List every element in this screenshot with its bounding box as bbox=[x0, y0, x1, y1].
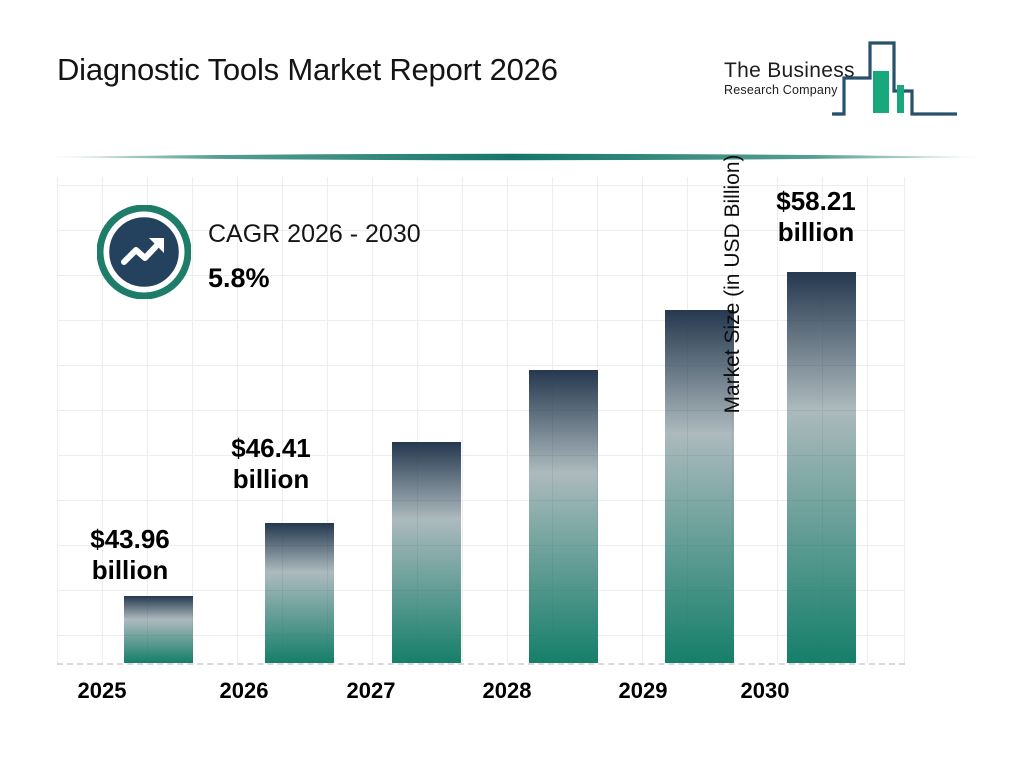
value-label-2026: $46.41 billion bbox=[199, 433, 343, 495]
x-tick-2030: 2030 bbox=[717, 678, 813, 704]
cagr-callout: CAGR 2026 - 2030 5.8% bbox=[97, 205, 497, 305]
value-unit: billion bbox=[744, 217, 888, 248]
trending-up-icon bbox=[97, 205, 191, 304]
value-label-2030: $58.21 billion bbox=[744, 186, 888, 248]
x-tick-2029: 2029 bbox=[595, 678, 691, 704]
y-axis-title: Market Size (in USD Billion) bbox=[721, 84, 745, 484]
value-amount: $58.21 bbox=[744, 186, 888, 217]
bar-2026[interactable] bbox=[265, 523, 334, 663]
market-size-bar-chart: $43.96 billion $46.41 billion $58.21 bil… bbox=[0, 0, 1024, 768]
cagr-value: 5.8% bbox=[208, 262, 421, 294]
value-unit: billion bbox=[199, 464, 343, 495]
bar-2027[interactable] bbox=[392, 442, 461, 663]
value-label-2025: $43.96 billion bbox=[58, 524, 202, 586]
cagr-period-label: CAGR 2026 - 2030 bbox=[208, 219, 421, 249]
value-amount: $46.41 bbox=[199, 433, 343, 464]
x-tick-2026: 2026 bbox=[196, 678, 292, 704]
cagr-text-group: CAGR 2026 - 2030 5.8% bbox=[208, 219, 421, 294]
x-tick-2025: 2025 bbox=[54, 678, 150, 704]
bar-2030[interactable] bbox=[787, 272, 856, 663]
bar-2028[interactable] bbox=[529, 370, 598, 663]
bar-2025[interactable] bbox=[124, 596, 193, 663]
value-amount: $43.96 bbox=[58, 524, 202, 555]
value-unit: billion bbox=[58, 555, 202, 586]
x-tick-2028: 2028 bbox=[459, 678, 555, 704]
x-tick-2027: 2027 bbox=[323, 678, 419, 704]
x-axis-line bbox=[57, 663, 905, 665]
